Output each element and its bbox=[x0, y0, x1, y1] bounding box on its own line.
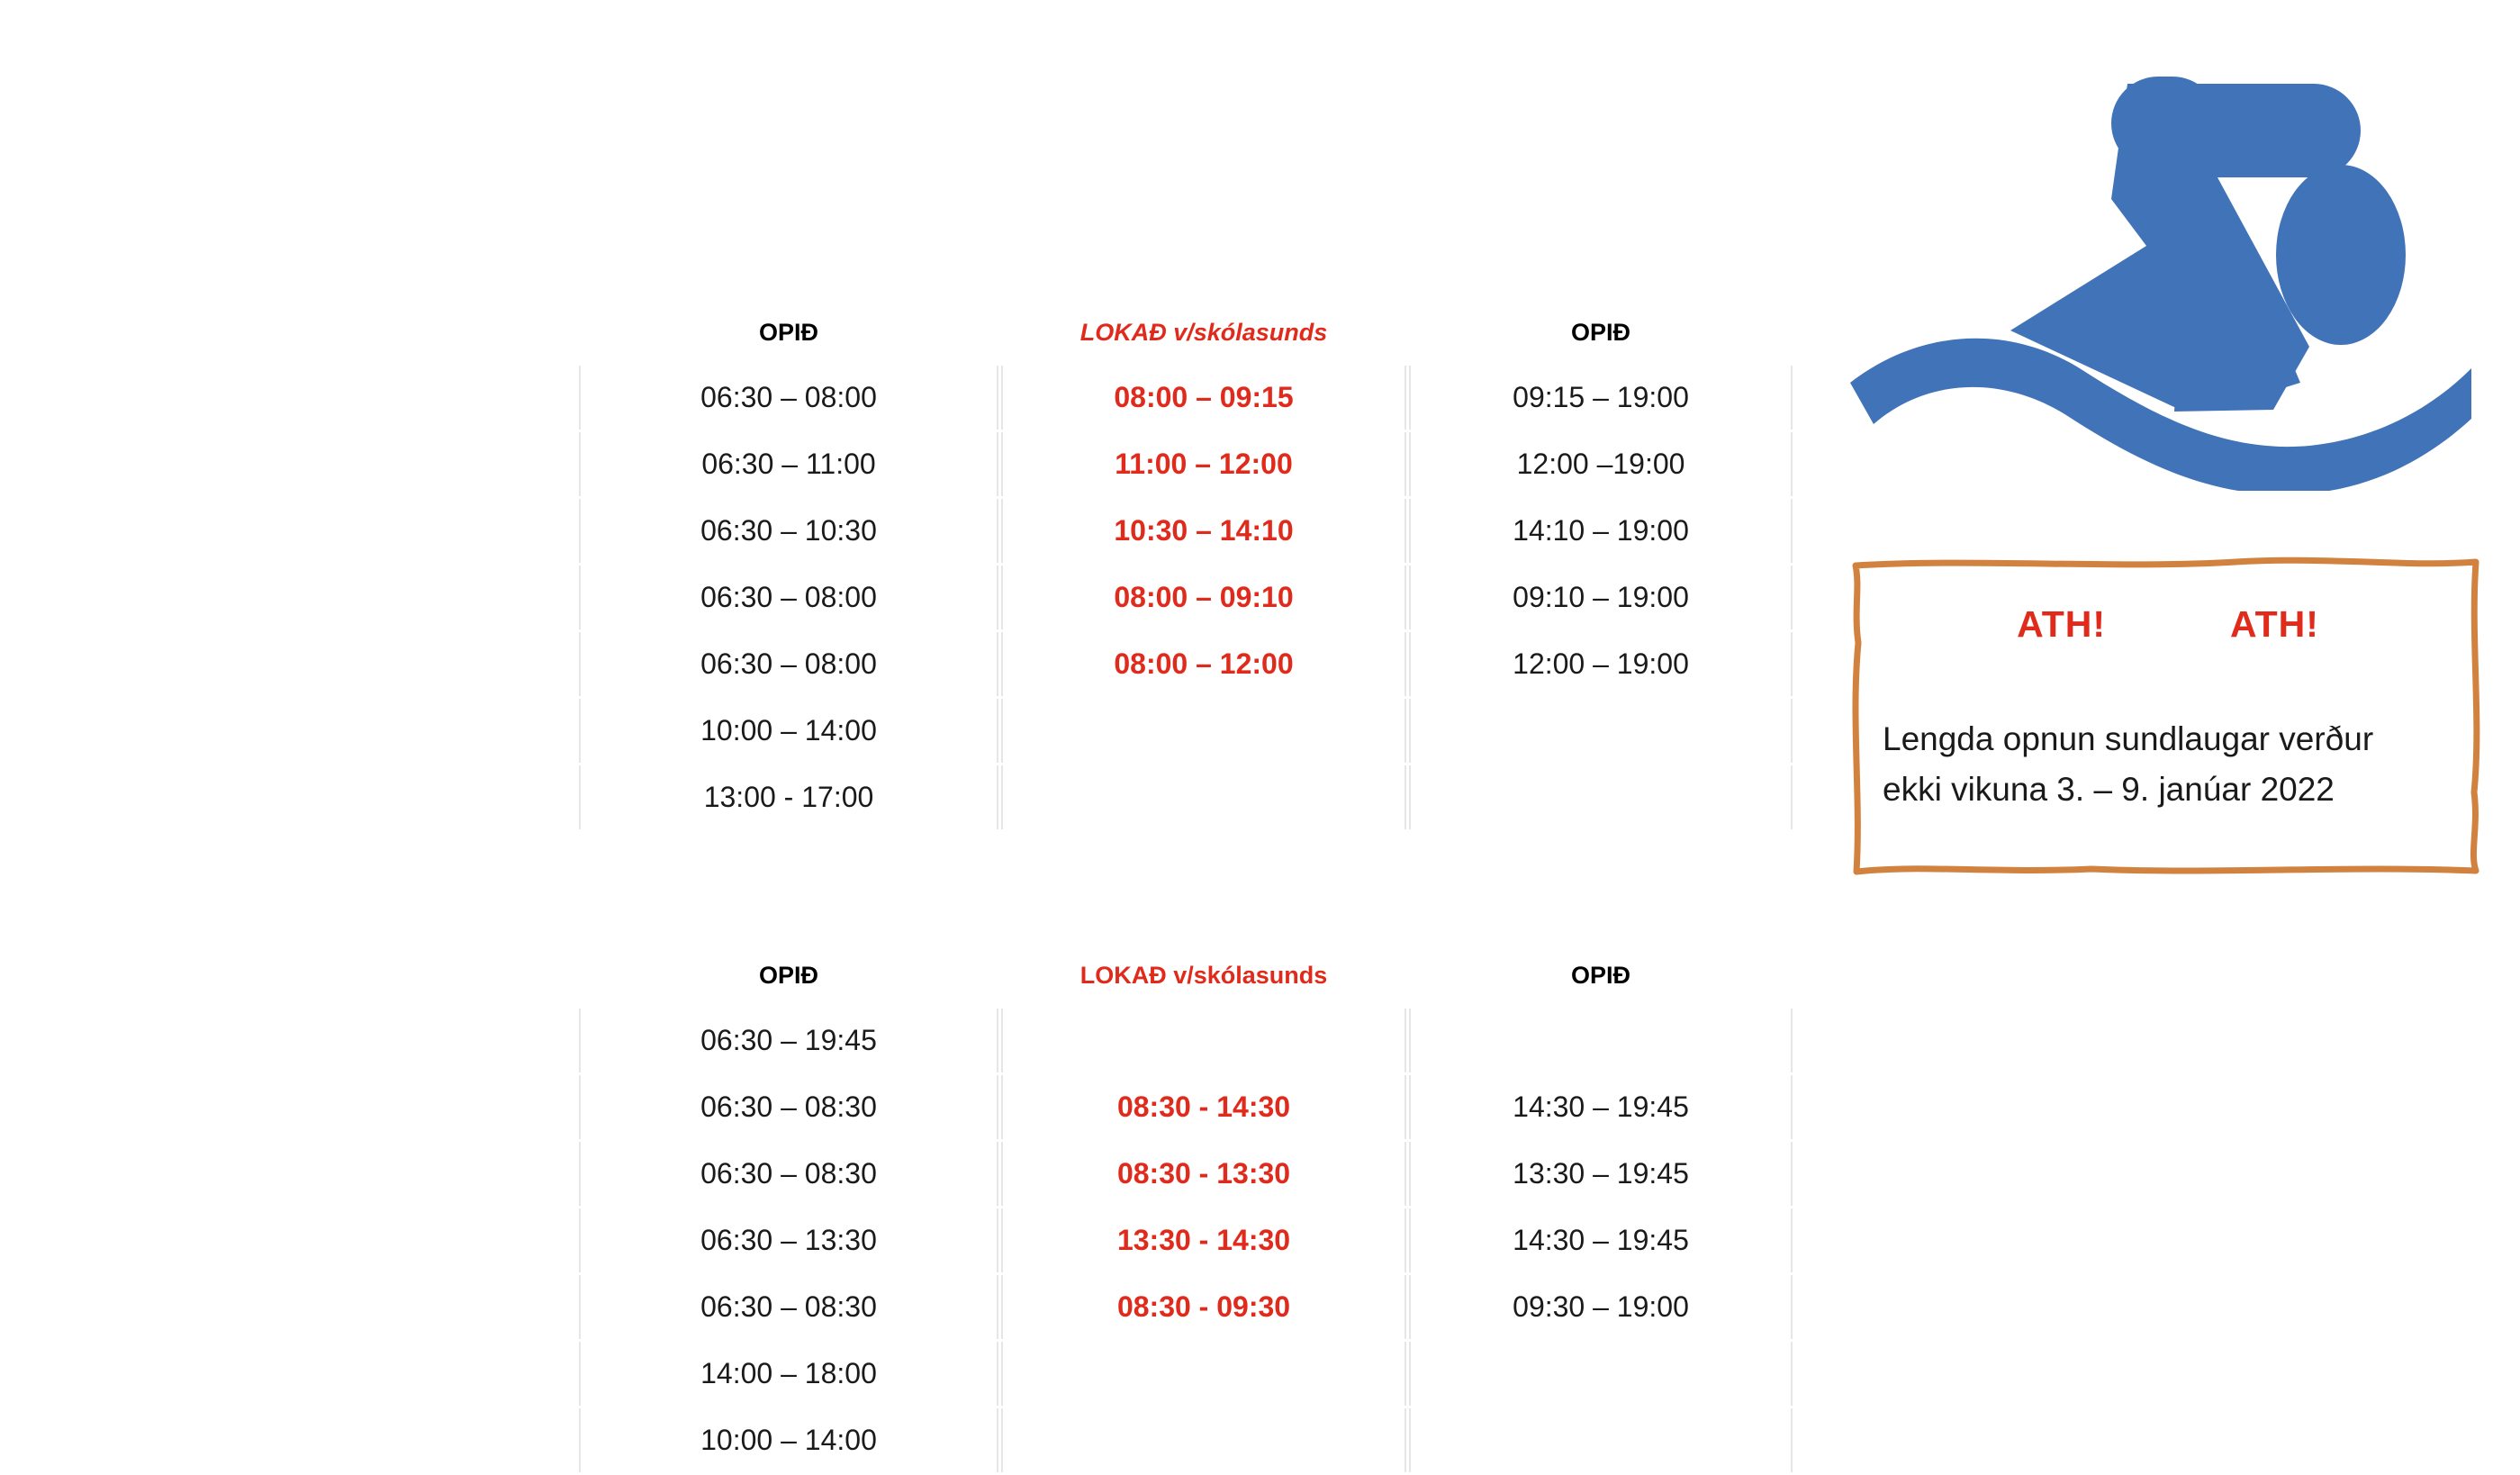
open-hours-1: 06:30 – 11:00 bbox=[579, 432, 998, 496]
closed-hours: 11:00 – 12:00 bbox=[1001, 432, 1406, 496]
table-row: Föstudaga 06:30 – 08:00 08:00 – 12:00 12… bbox=[43, 632, 1793, 696]
day-label: Föstudaga bbox=[43, 1275, 576, 1339]
open-hours-2: 14:30 – 19:45 bbox=[1409, 1075, 1793, 1139]
opening-hours-table: Íþróttamiðstöðvar Fjallabyggðar Opnunart… bbox=[41, 18, 1795, 1475]
pool-name-siglufjordur: Siglufjörður bbox=[579, 832, 1793, 942]
table-row: Laugardaga 14:00 – 18:00 bbox=[43, 1342, 1793, 1406]
day-label: Þriðjudaga bbox=[43, 432, 576, 496]
attention-label-left: ATH! bbox=[2017, 603, 2106, 646]
table-row: Mánudaga 06:30 – 08:00 08:00 – 09:15 09:… bbox=[43, 366, 1793, 430]
open-hours-2 bbox=[1409, 1009, 1793, 1072]
open-hours-1: 06:30 – 08:30 bbox=[579, 1142, 998, 1206]
table-row: Sunnudaga 13:00 - 17:00 bbox=[43, 765, 1793, 829]
open-hours-1: 14:00 – 18:00 bbox=[579, 1342, 998, 1406]
poster-page: Íþróttamiðstöðvar Fjallabyggðar Opnunart… bbox=[0, 0, 2520, 1419]
open-hours-2: 12:00 – 19:00 bbox=[1409, 632, 1793, 696]
table-row: Fimmtudaga 06:30 – 08:00 08:00 – 09:10 0… bbox=[43, 566, 1793, 629]
day-label: Mánudaga bbox=[43, 1009, 576, 1072]
closed-hours: 08:30 - 09:30 bbox=[1001, 1275, 1406, 1339]
notice-text-line-2: ekki vikuna 3. – 9. janúar 2022 bbox=[1883, 765, 2462, 815]
open-hours-1: 06:30 – 08:30 bbox=[579, 1075, 998, 1139]
day-label: Miðvikudaga bbox=[43, 1142, 576, 1206]
pool-name-olafsfjordur: Ólafsfjörður bbox=[579, 189, 1793, 299]
open-hours-1: 06:30 – 08:00 bbox=[579, 366, 998, 430]
table-row: Miðvikudaga 06:30 – 08:30 08:30 - 13:30 … bbox=[43, 1142, 1793, 1206]
closed-hours: 08:00 – 09:10 bbox=[1001, 566, 1406, 629]
table-row: Þriðjudaga 06:30 – 08:30 08:30 - 14:30 1… bbox=[43, 1075, 1793, 1139]
open-hours-1: 13:00 - 17:00 bbox=[579, 765, 998, 829]
table-row: Mánudaga 06:30 – 19:45 bbox=[43, 1009, 1793, 1072]
open-hours-2 bbox=[1409, 699, 1793, 763]
table-row: Þriðjudaga 06:30 – 11:00 11:00 – 12:00 1… bbox=[43, 432, 1793, 496]
open-hours-1: 10:00 – 14:00 bbox=[579, 699, 998, 763]
open-hours-2: 14:30 – 19:45 bbox=[1409, 1208, 1793, 1272]
pool-name-row-olafsfjordur: Ólafsfjörður bbox=[43, 189, 1793, 299]
open-hours-2: 13:30 – 19:45 bbox=[1409, 1142, 1793, 1206]
day-label: Sunnudaga bbox=[43, 765, 576, 829]
closed-hours bbox=[1001, 1009, 1406, 1072]
right-column: ATH! ATH! Lengda opnun sundlaugar verður… bbox=[1832, 0, 2503, 1419]
table-row: Laugardaga 10:00 – 14:00 bbox=[43, 699, 1793, 763]
notice-text-line-1: Lengda opnun sundlaugar verður bbox=[1883, 714, 2462, 765]
closed-hours bbox=[1001, 765, 1406, 829]
closed-hours: 08:30 - 13:30 bbox=[1001, 1142, 1406, 1206]
day-label: Fimmtudaga bbox=[43, 1208, 576, 1272]
closed-hours bbox=[1001, 1342, 1406, 1406]
closed-hours: 08:00 – 12:00 bbox=[1001, 632, 1406, 696]
attention-row: ATH! ATH! bbox=[1874, 603, 2462, 646]
open-hours-1: 06:30 – 08:30 bbox=[579, 1275, 998, 1339]
open-hours-1: 06:30 – 08:00 bbox=[579, 632, 998, 696]
day-label: Mánudaga bbox=[43, 366, 576, 430]
open-hours-2: 09:10 – 19:00 bbox=[1409, 566, 1793, 629]
open-hours-1: 06:30 – 19:45 bbox=[579, 1009, 998, 1072]
closed-hours: 13:30 - 14:30 bbox=[1001, 1208, 1406, 1272]
open-hours-2 bbox=[1409, 1342, 1793, 1406]
table-row: Föstudaga 06:30 – 08:30 08:30 - 09:30 09… bbox=[43, 1275, 1793, 1339]
pool-name-row-siglufjordur: Siglufjörður bbox=[43, 832, 1793, 942]
day-label: Sunnudaga bbox=[43, 1408, 576, 1472]
page-subtitle: Opnunartími sundlauga frá og með 3. janú… bbox=[43, 121, 1793, 167]
day-label: Fimmtudaga bbox=[43, 566, 576, 629]
open-hours-2: 14:10 – 19:00 bbox=[1409, 499, 1793, 563]
table-row: Miðvikudaga 06:30 – 10:30 10:30 – 14:10 … bbox=[43, 499, 1793, 563]
open-hours-2: 12:00 –19:00 bbox=[1409, 432, 1793, 496]
table-row: Sunnudaga 10:00 – 14:00 bbox=[43, 1408, 1793, 1472]
column-header-row-siglufjordur: OPIÐ LOKAÐ v/skólasunds OPIÐ bbox=[43, 945, 1793, 1006]
open-hours-1: 06:30 – 13:30 bbox=[579, 1208, 998, 1272]
page-title: Íþróttamiðstöðvar Fjallabyggðar bbox=[43, 41, 1793, 102]
day-label: Laugardaga bbox=[43, 699, 576, 763]
column-header-row-olafsfjordur: OPIÐ LOKAÐ v/skólasunds OPIÐ bbox=[43, 302, 1793, 363]
pool-name-spacer bbox=[43, 189, 576, 299]
notice-content: ATH! ATH! Lengda opnun sundlaugar verður… bbox=[1874, 593, 2462, 858]
day-label: Laugardaga bbox=[43, 1342, 576, 1406]
column-header-day bbox=[43, 302, 576, 363]
column-header-closed: LOKAÐ v/skólasunds bbox=[1001, 302, 1406, 363]
day-label: Miðvikudaga bbox=[43, 499, 576, 563]
column-header-open-1: OPIÐ bbox=[579, 302, 998, 363]
column-header-closed: LOKAÐ v/skólasunds bbox=[1001, 945, 1406, 1006]
column-header-open-1: OPIÐ bbox=[579, 945, 998, 1006]
open-hours-1: 06:30 – 10:30 bbox=[579, 499, 998, 563]
day-label: Föstudaga bbox=[43, 632, 576, 696]
closed-hours bbox=[1001, 699, 1406, 763]
pool-name-spacer bbox=[43, 832, 576, 942]
column-header-open-2: OPIÐ bbox=[1409, 302, 1793, 363]
open-hours-2 bbox=[1409, 765, 1793, 829]
poster-header: Íþróttamiðstöðvar Fjallabyggðar Opnunart… bbox=[43, 21, 1793, 186]
notice-text: Lengda opnun sundlaugar verður ekki viku… bbox=[1874, 714, 2462, 815]
open-hours-1: 10:00 – 14:00 bbox=[579, 1408, 998, 1472]
day-label: Þriðjudaga bbox=[43, 1075, 576, 1139]
attention-notice: ATH! ATH! Lengda opnun sundlaugar verður… bbox=[1848, 557, 2484, 876]
closed-hours: 10:30 – 14:10 bbox=[1001, 499, 1406, 563]
open-hours-2 bbox=[1409, 1408, 1793, 1472]
swimmer-icon bbox=[1841, 23, 2489, 491]
column-header-open-2: OPIÐ bbox=[1409, 945, 1793, 1006]
table-row: Fimmtudaga 06:30 – 13:30 13:30 - 14:30 1… bbox=[43, 1208, 1793, 1272]
closed-hours bbox=[1001, 1408, 1406, 1472]
title-row: Íþróttamiðstöðvar Fjallabyggðar Opnunart… bbox=[43, 21, 1793, 186]
attention-label-right: ATH! bbox=[2230, 603, 2319, 646]
open-hours-2: 09:15 – 19:00 bbox=[1409, 366, 1793, 430]
open-hours-1: 06:30 – 08:00 bbox=[579, 566, 998, 629]
closed-hours: 08:30 - 14:30 bbox=[1001, 1075, 1406, 1139]
closed-hours: 08:00 – 09:15 bbox=[1001, 366, 1406, 430]
open-hours-2: 09:30 – 19:00 bbox=[1409, 1275, 1793, 1339]
column-header-day bbox=[43, 945, 576, 1006]
